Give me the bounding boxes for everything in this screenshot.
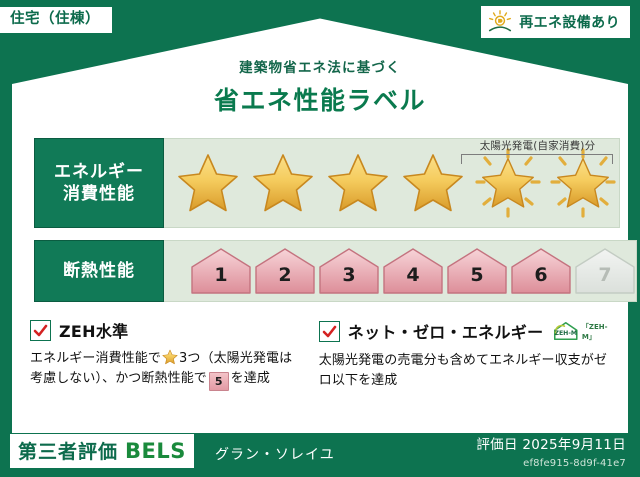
title-subtitle: 建築物省エネ法に基づく bbox=[0, 56, 640, 76]
zeh-standard-column: ZEH水準 エネルギー消費性能で3つ（太陽光発電は考慮しない）、かつ断熱性能で5… bbox=[30, 318, 305, 391]
insulation-row-label: 断熱性能 bbox=[34, 240, 164, 302]
inline-star-icon bbox=[162, 349, 178, 365]
grade-value-3: 3 bbox=[342, 264, 355, 295]
zeh-m-house-logo-icon: ZEH-M 「ZEH-M」 bbox=[552, 318, 614, 344]
energy-label-line2: 消費性能 bbox=[63, 183, 135, 205]
star-3 bbox=[322, 148, 394, 218]
net-zero-title: ネット・ゼロ・エネルギー bbox=[348, 319, 544, 343]
footer-bar: 第三者評価 BELS グラン・ソレイユ 評価日 2025年9月11日 ef8fe… bbox=[0, 431, 640, 477]
star-4 bbox=[397, 148, 469, 218]
net-zero-energy-column: ネット・ゼロ・エネルギー ZEH-M 「ZEH-M」 太陽光発電の売電分も含めて… bbox=[319, 318, 614, 391]
star-2 bbox=[247, 148, 319, 218]
zeh-m-caption: 「ZEH-M」 bbox=[582, 322, 614, 344]
criteria-columns: ZEH水準 エネルギー消費性能で3つ（太陽光発電は考慮しない）、かつ断熱性能で5… bbox=[30, 318, 614, 391]
grade-value-4: 4 bbox=[406, 264, 419, 295]
energy-performance-row: エネルギー 消費性能 bbox=[34, 138, 610, 228]
evaluation-date-value: 2025年9月11日 bbox=[522, 437, 626, 453]
inline-grade-badge: 5 bbox=[209, 372, 229, 391]
grade-house-6: 6 bbox=[510, 247, 572, 295]
energy-label-line1: エネルギー bbox=[54, 161, 144, 183]
title-block: 建築物省エネ法に基づく 省エネ性能ラベル bbox=[0, 56, 640, 117]
evaluation-date: 評価日 2025年9月11日 bbox=[476, 433, 626, 453]
grade-value-5: 5 bbox=[470, 264, 483, 295]
insulation-performance-row: 断熱性能 1 2 3 4 bbox=[34, 240, 610, 302]
page-title: 省エネ性能ラベル bbox=[0, 81, 640, 117]
building-type-tag: 住宅（住棟） bbox=[0, 7, 112, 33]
zeh-text-before-star: エネルギー消費性能で bbox=[30, 351, 161, 366]
bels-jp-label: 第三者評価 bbox=[18, 437, 118, 464]
zeh-standard-header: ZEH水準 bbox=[30, 318, 305, 342]
svg-text:ZEH-M: ZEH-M bbox=[555, 330, 578, 337]
star-1 bbox=[172, 148, 244, 218]
net-zero-header: ネット・ゼロ・エネルギー ZEH-M 「ZEH-M」 bbox=[319, 318, 614, 344]
zeh-text-end: を達成 bbox=[231, 371, 270, 386]
bels-badge: 第三者評価 BELS bbox=[10, 434, 194, 468]
solar-consumption-note: 太陽光発電(自家消費)分 bbox=[460, 138, 615, 153]
grade-house-3: 3 bbox=[318, 247, 380, 295]
check-icon-netzero bbox=[319, 321, 340, 342]
zeh-standard-body: エネルギー消費性能で3つ（太陽光発電は考慮しない）、かつ断熱性能で5を達成 bbox=[30, 349, 305, 391]
sun-solar-icon bbox=[487, 10, 513, 34]
grade-house-5: 5 bbox=[446, 247, 508, 295]
check-icon-zeh bbox=[30, 320, 51, 341]
grade-house-7: 7 bbox=[574, 247, 636, 295]
grade-value-1: 1 bbox=[214, 264, 227, 295]
net-zero-body: 太陽光発電の売電分も含めてエネルギー収支がゼロ以下を達成 bbox=[319, 351, 614, 391]
renewable-equipment-badge: 再エネ設備あり bbox=[481, 6, 630, 38]
zeh-standard-title: ZEH水準 bbox=[59, 318, 128, 342]
solar-bracket bbox=[461, 154, 613, 164]
property-name: グラン・ソレイユ bbox=[215, 444, 335, 464]
grade-value-2: 2 bbox=[278, 264, 291, 295]
insulation-row-body: 1 2 3 4 5 bbox=[164, 240, 637, 302]
insulation-label-text: 断熱性能 bbox=[63, 260, 135, 282]
grade-value-6: 6 bbox=[534, 264, 547, 295]
bels-en-label: BELS bbox=[125, 439, 186, 463]
evaluation-id: ef8fe915-8d9f-41e7 bbox=[523, 458, 626, 469]
evaluation-date-label: 評価日 bbox=[476, 437, 517, 453]
grade-house-4: 4 bbox=[382, 247, 444, 295]
grade-house-2: 2 bbox=[254, 247, 316, 295]
grade-house-1: 1 bbox=[190, 247, 252, 295]
renewable-badge-label: 再エネ設備あり bbox=[519, 12, 620, 32]
energy-label-root: 住宅（住棟） 再エネ設備あり 建築物省エネ法に基づく 省エネ性能ラベル bbox=[0, 0, 640, 477]
energy-row-label: エネルギー 消費性能 bbox=[34, 138, 164, 228]
grade-value-7: 7 bbox=[598, 264, 611, 295]
energy-row-body: 太陽光発電(自家消費)分 bbox=[164, 138, 620, 228]
insulation-grade-scale: 1 2 3 4 5 bbox=[164, 247, 636, 295]
